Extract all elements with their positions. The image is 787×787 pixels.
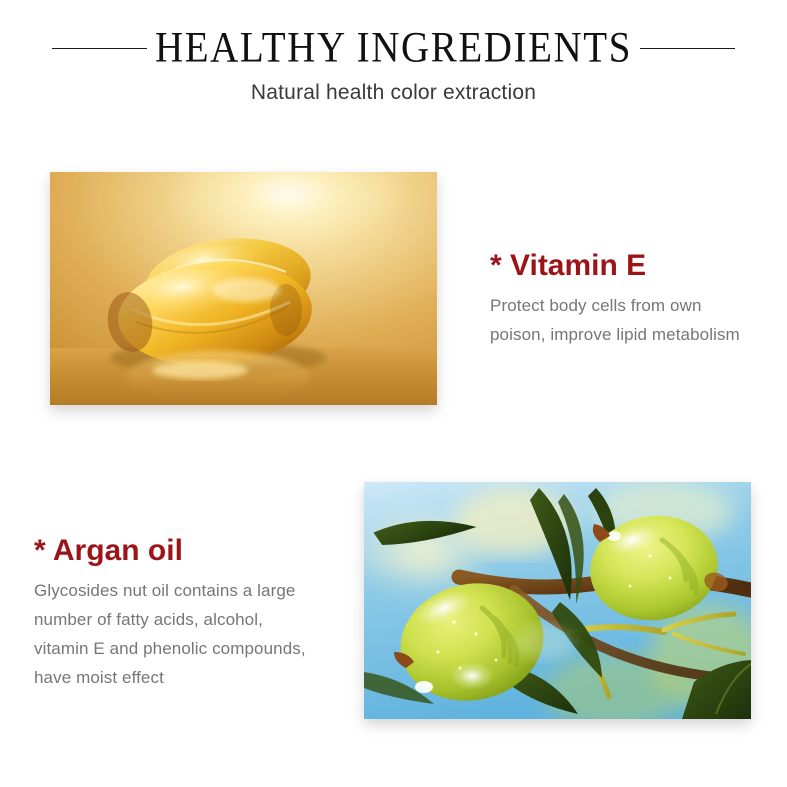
page-title: HEALTHY INGREDIENTS xyxy=(147,23,640,72)
ingredient-body-vitamin-e: Protect body cells from own poison, impr… xyxy=(490,291,787,349)
vitamin-e-photo xyxy=(50,172,437,405)
ingredient-heading-vitamin-e: * Vitamin E xyxy=(490,248,787,284)
argan-oil-photo xyxy=(364,482,751,719)
title-rule-right xyxy=(640,48,735,49)
ingredient-body-line: Glycosides nut oil contains a large xyxy=(34,576,364,605)
ingredient-body-line: have moist effect xyxy=(34,663,364,692)
title-rule-left xyxy=(52,48,147,49)
ingredient-body-line: number of fatty acids, alcohol, xyxy=(34,605,364,634)
page-header: HEALTHY INGREDIENTS Natural health color… xyxy=(0,0,787,125)
page-subtitle: Natural health color extraction xyxy=(0,80,787,106)
ingredient-body-line: poison, improve lipid metabolism xyxy=(490,320,787,349)
title-row: HEALTHY INGREDIENTS xyxy=(0,24,787,72)
ingredient-body-line: vitamin E and phenolic compounds, xyxy=(34,634,364,663)
ingredient-block-argan-oil: * Argan oil Glycosides nut oil contains … xyxy=(34,533,364,692)
ingredient-body-argan-oil: Glycosides nut oil contains a large numb… xyxy=(34,576,364,692)
ingredient-block-vitamin-e: * Vitamin E Protect body cells from own … xyxy=(490,248,787,349)
ingredient-heading-argan-oil: * Argan oil xyxy=(34,533,364,569)
ingredient-body-line: Protect body cells from own xyxy=(490,291,787,320)
